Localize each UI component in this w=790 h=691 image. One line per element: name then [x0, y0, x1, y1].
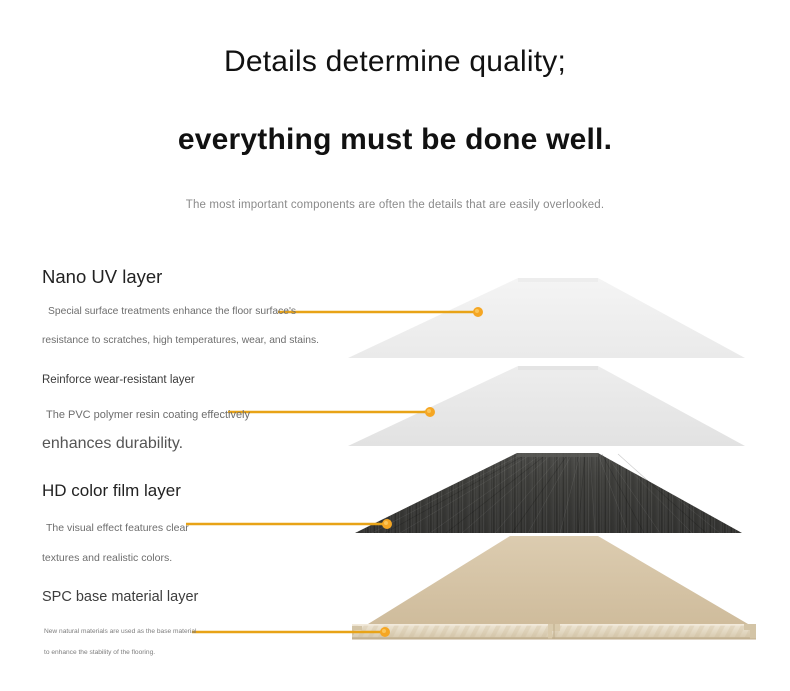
layer-shape-spc-base [352, 536, 756, 639]
layer-desc-spc-base-line1: New natural materials are used as the ba… [42, 628, 198, 635]
layer-shape-hd-color-film [355, 453, 742, 533]
layer-desc-wear-resistant-line2: enhances durability. [42, 435, 250, 453]
layer-desc-nano-uv-line1: Special surface treatments enhance the f… [42, 307, 319, 317]
layer-title-nano-uv: Nano UV layer [42, 266, 319, 288]
header: Details determine quality; everything mu… [0, 0, 790, 211]
layer-label-nano-uv: Nano UV layer Special surface treatments… [42, 266, 319, 347]
layer-desc-nano-uv-line2: resistance to scratches, high temperatur… [42, 336, 319, 346]
layer-label-wear-resistant: Reinforce wear-resistant layer The PVC p… [42, 374, 250, 453]
headline-line-1: Details determine quality; [0, 46, 790, 78]
layer-shape-wear-resistant [348, 366, 745, 446]
headline-line-2: everything must be done well. [0, 124, 790, 156]
layer-desc-hd-color-film-line1: The visual effect features clear [42, 522, 189, 534]
flooring-layers-infographic: Details determine quality; everything mu… [0, 0, 790, 691]
subtitle: The most important components are often … [0, 199, 790, 211]
layer-desc-wear-resistant-line1: The PVC polymer resin coating effectivel… [42, 409, 250, 421]
layer-title-spc-base: SPC base material layer [42, 589, 198, 605]
layer-desc-hd-color-film-line2: textures and realistic colors. [42, 552, 189, 564]
layer-desc-spc-base-line2: to enhance the stability of the flooring… [42, 649, 198, 656]
layer-stack-diagram: Nano UV layer Special surface treatments… [0, 236, 790, 691]
layer-title-wear-resistant: Reinforce wear-resistant layer [42, 374, 250, 386]
layer-label-hd-color-film: HD color film layer The visual effect fe… [42, 481, 189, 564]
layer-label-spc-base: SPC base material layer New natural mate… [42, 589, 198, 656]
layer-title-hd-color-film: HD color film layer [42, 481, 189, 501]
